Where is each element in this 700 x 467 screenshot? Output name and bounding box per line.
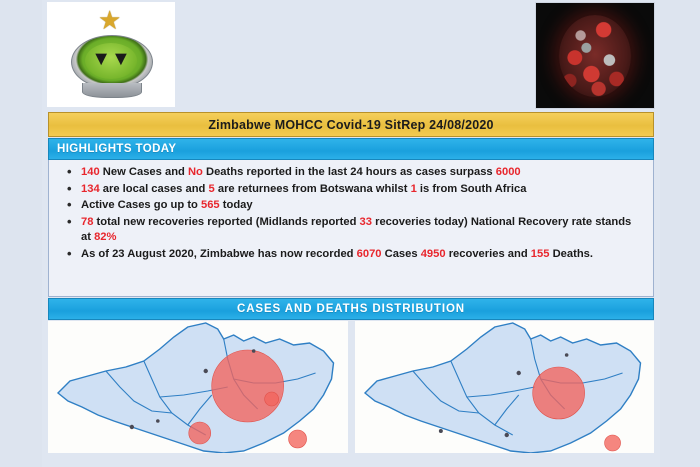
highlights-banner: HIGHLIGHTS TODAY [48,138,654,160]
map-city-dot [504,433,508,437]
zimbabwe-ministry-of-health-emblem-icon: ▼▼ [68,9,154,101]
zimbabwe-cases-bubble-map-graphic [48,321,348,453]
highlight-bullet-new-cases: 140 New Cases and No Deaths reported in … [81,165,643,181]
highlight-value: 6000 [496,166,521,178]
highlight-value: 82% [94,231,116,243]
document-title-bar: Zimbabwe MOHCC Covid-19 SitRep 24/08/202… [48,112,654,137]
map-bubble-mash-east [265,392,279,406]
highlight-value: 4950 [421,248,446,260]
highlight-value: 78 [81,216,93,228]
highlight-text: is from South Africa [417,183,527,195]
coronavirus-image-panel [535,2,655,109]
highlight-text: New Cases and [100,166,188,178]
map-bubble-manicaland [289,430,307,448]
map-city-dot [564,353,568,357]
highlights-bullet-list: 140 New Cases and No Deaths reported in … [59,165,643,263]
highlight-value: 33 [360,216,372,228]
distribution-banner: CASES AND DEATHS DISTRIBUTION [48,298,654,320]
emblem-base [82,83,142,98]
map-city-dot [156,419,160,423]
map-bubble-harare [212,350,284,422]
map-bubble-manicaland [604,435,620,451]
coronavirus-particle-icon [559,15,631,97]
highlight-text: Deaths reported in the last 24 hours as … [203,166,496,178]
highlights-banner-label: HIGHLIGHTS TODAY [49,143,177,155]
highlight-text: Active Cases go up to [81,199,201,211]
highlight-value: 140 [81,166,100,178]
highlight-value: 565 [201,199,220,211]
distribution-maps-row [48,321,654,453]
highlight-bullet-local-vs-returnees: 134 are local cases and 5 are returnees … [81,182,643,198]
highlight-bullet-recoveries: 78 total new recoveries reported (Midlan… [81,215,643,246]
highlight-value: 6070 [357,248,382,260]
highlight-text: Cases [382,248,421,260]
map-city-dot [204,369,208,373]
cases-distribution-map [48,321,348,453]
map-city-dot [438,429,442,433]
document-page: ▼▼ Zimbabwe MOHCC Covid-19 SitRep 24/08/… [42,0,660,467]
highlight-text: today [220,199,253,211]
map-city-dot [516,371,520,375]
highlight-value: 155 [531,248,550,260]
ministry-logo-panel: ▼▼ [47,2,175,107]
map-city-dot [130,425,134,429]
highlight-bullet-cumulative-totals: As of 23 August 2020, Zimbabwe has now r… [81,247,643,263]
highlight-text: are returnees from Botswana whilst [215,183,411,195]
highlights-body: 140 New Cases and No Deaths reported in … [48,160,654,297]
map-bubble-harare [532,367,584,419]
map-bubble-masvingo [189,422,211,444]
highlight-bullet-active-cases: Active Cases go up to 565 today [81,198,643,214]
highlight-text: are local cases and [100,183,209,195]
highlight-value: 134 [81,183,100,195]
map-city-dot [252,349,256,353]
page-title: Zimbabwe MOHCC Covid-19 SitRep 24/08/202… [208,118,493,132]
highlight-text: recoveries and [446,248,531,260]
highlight-value: No [188,166,203,178]
zimbabwe-bird-icon: ▼▼ [91,49,131,69]
zimbabwe-deaths-bubble-map-graphic [355,321,655,453]
highlight-text: Deaths. [549,248,593,260]
highlight-text: total new recoveries reported (Midlands … [93,216,359,228]
document-header: ▼▼ [42,0,660,110]
distribution-banner-label: CASES AND DEATHS DISTRIBUTION [237,303,465,315]
highlight-text: As of 23 August 2020, Zimbabwe has now r… [81,248,357,260]
deaths-distribution-map [355,321,655,453]
